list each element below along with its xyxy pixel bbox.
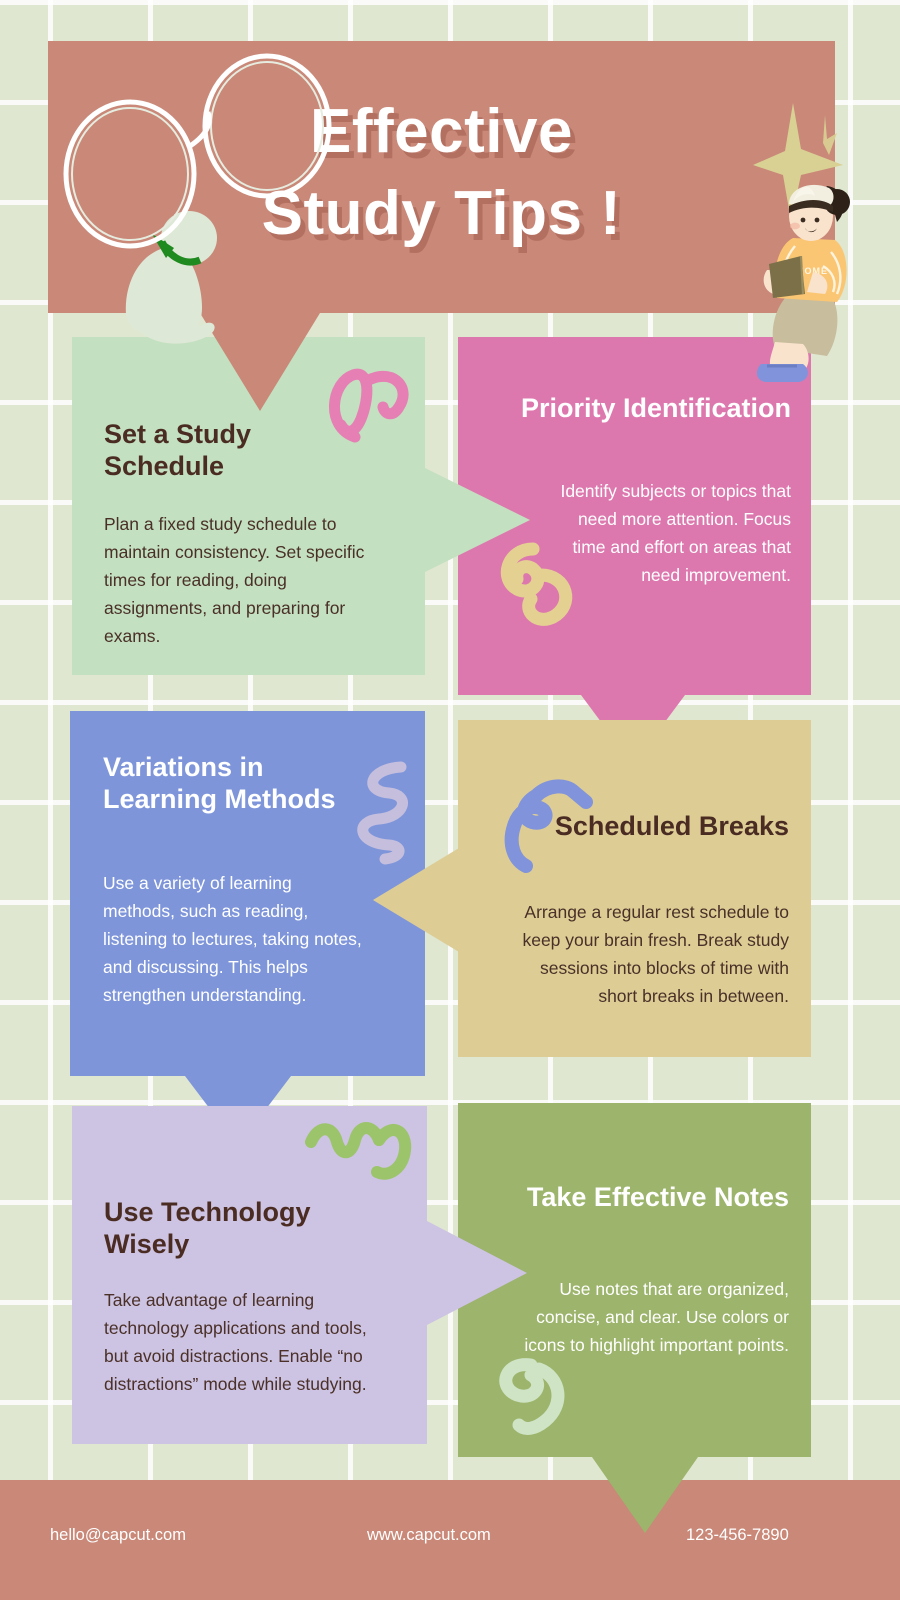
card-scheduled-breaks: Scheduled Breaks Arrange a regular rest …	[458, 720, 811, 1057]
footer-website[interactable]: www.capcut.com	[367, 1526, 491, 1545]
card-variations-in-learning-methods: Variations in Learning Methods Use a var…	[70, 711, 425, 1076]
wave-squiggle-icon	[500, 778, 598, 874]
card-5-body: Take advantage of learning technology ap…	[104, 1286, 389, 1398]
card-4-body: Arrange a regular rest schedule to keep …	[504, 898, 789, 1010]
footer-contact-row: hello@capcut.com www.capcut.com 123-456-…	[0, 1480, 900, 1600]
footer-phone[interactable]: 123-456-7890	[686, 1526, 789, 1545]
scribble-squiggle-icon	[305, 1116, 413, 1194]
card-use-technology-wisely: Use Technology Wisely Take advantage of …	[72, 1106, 427, 1444]
girl-reading-icon: HOME	[753, 166, 883, 406]
curl-squiggle-icon	[491, 1351, 575, 1439]
card-1-body: Plan a fixed study schedule to maintain …	[104, 510, 369, 650]
infographic-poster: HOME Effective Study Tips !	[0, 0, 900, 1600]
footer-bar: hello@capcut.com www.capcut.com 123-456-…	[0, 1480, 900, 1600]
card-6-body: Use notes that are organized, concise, a…	[517, 1275, 789, 1359]
footer-email[interactable]: hello@capcut.com	[50, 1526, 186, 1545]
card-3-title: Variations in Learning Methods	[103, 751, 353, 816]
card-3-body: Use a variety of learning methods, such …	[103, 869, 368, 1009]
glasses-icon	[18, 34, 348, 324]
card-2-title: Priority Identification	[511, 392, 791, 424]
loop-squiggle-icon	[319, 365, 415, 443]
card-5-title: Use Technology Wisely	[104, 1196, 394, 1261]
card-4-left-arrow	[373, 848, 459, 952]
header-banner: HOME Effective Study Tips !	[48, 41, 835, 313]
card-6-title: Take Effective Notes	[499, 1181, 789, 1213]
card-5-right-arrow	[427, 1221, 527, 1325]
card-1-right-arrow	[425, 468, 530, 572]
card-6-down-arrow	[592, 1457, 698, 1533]
